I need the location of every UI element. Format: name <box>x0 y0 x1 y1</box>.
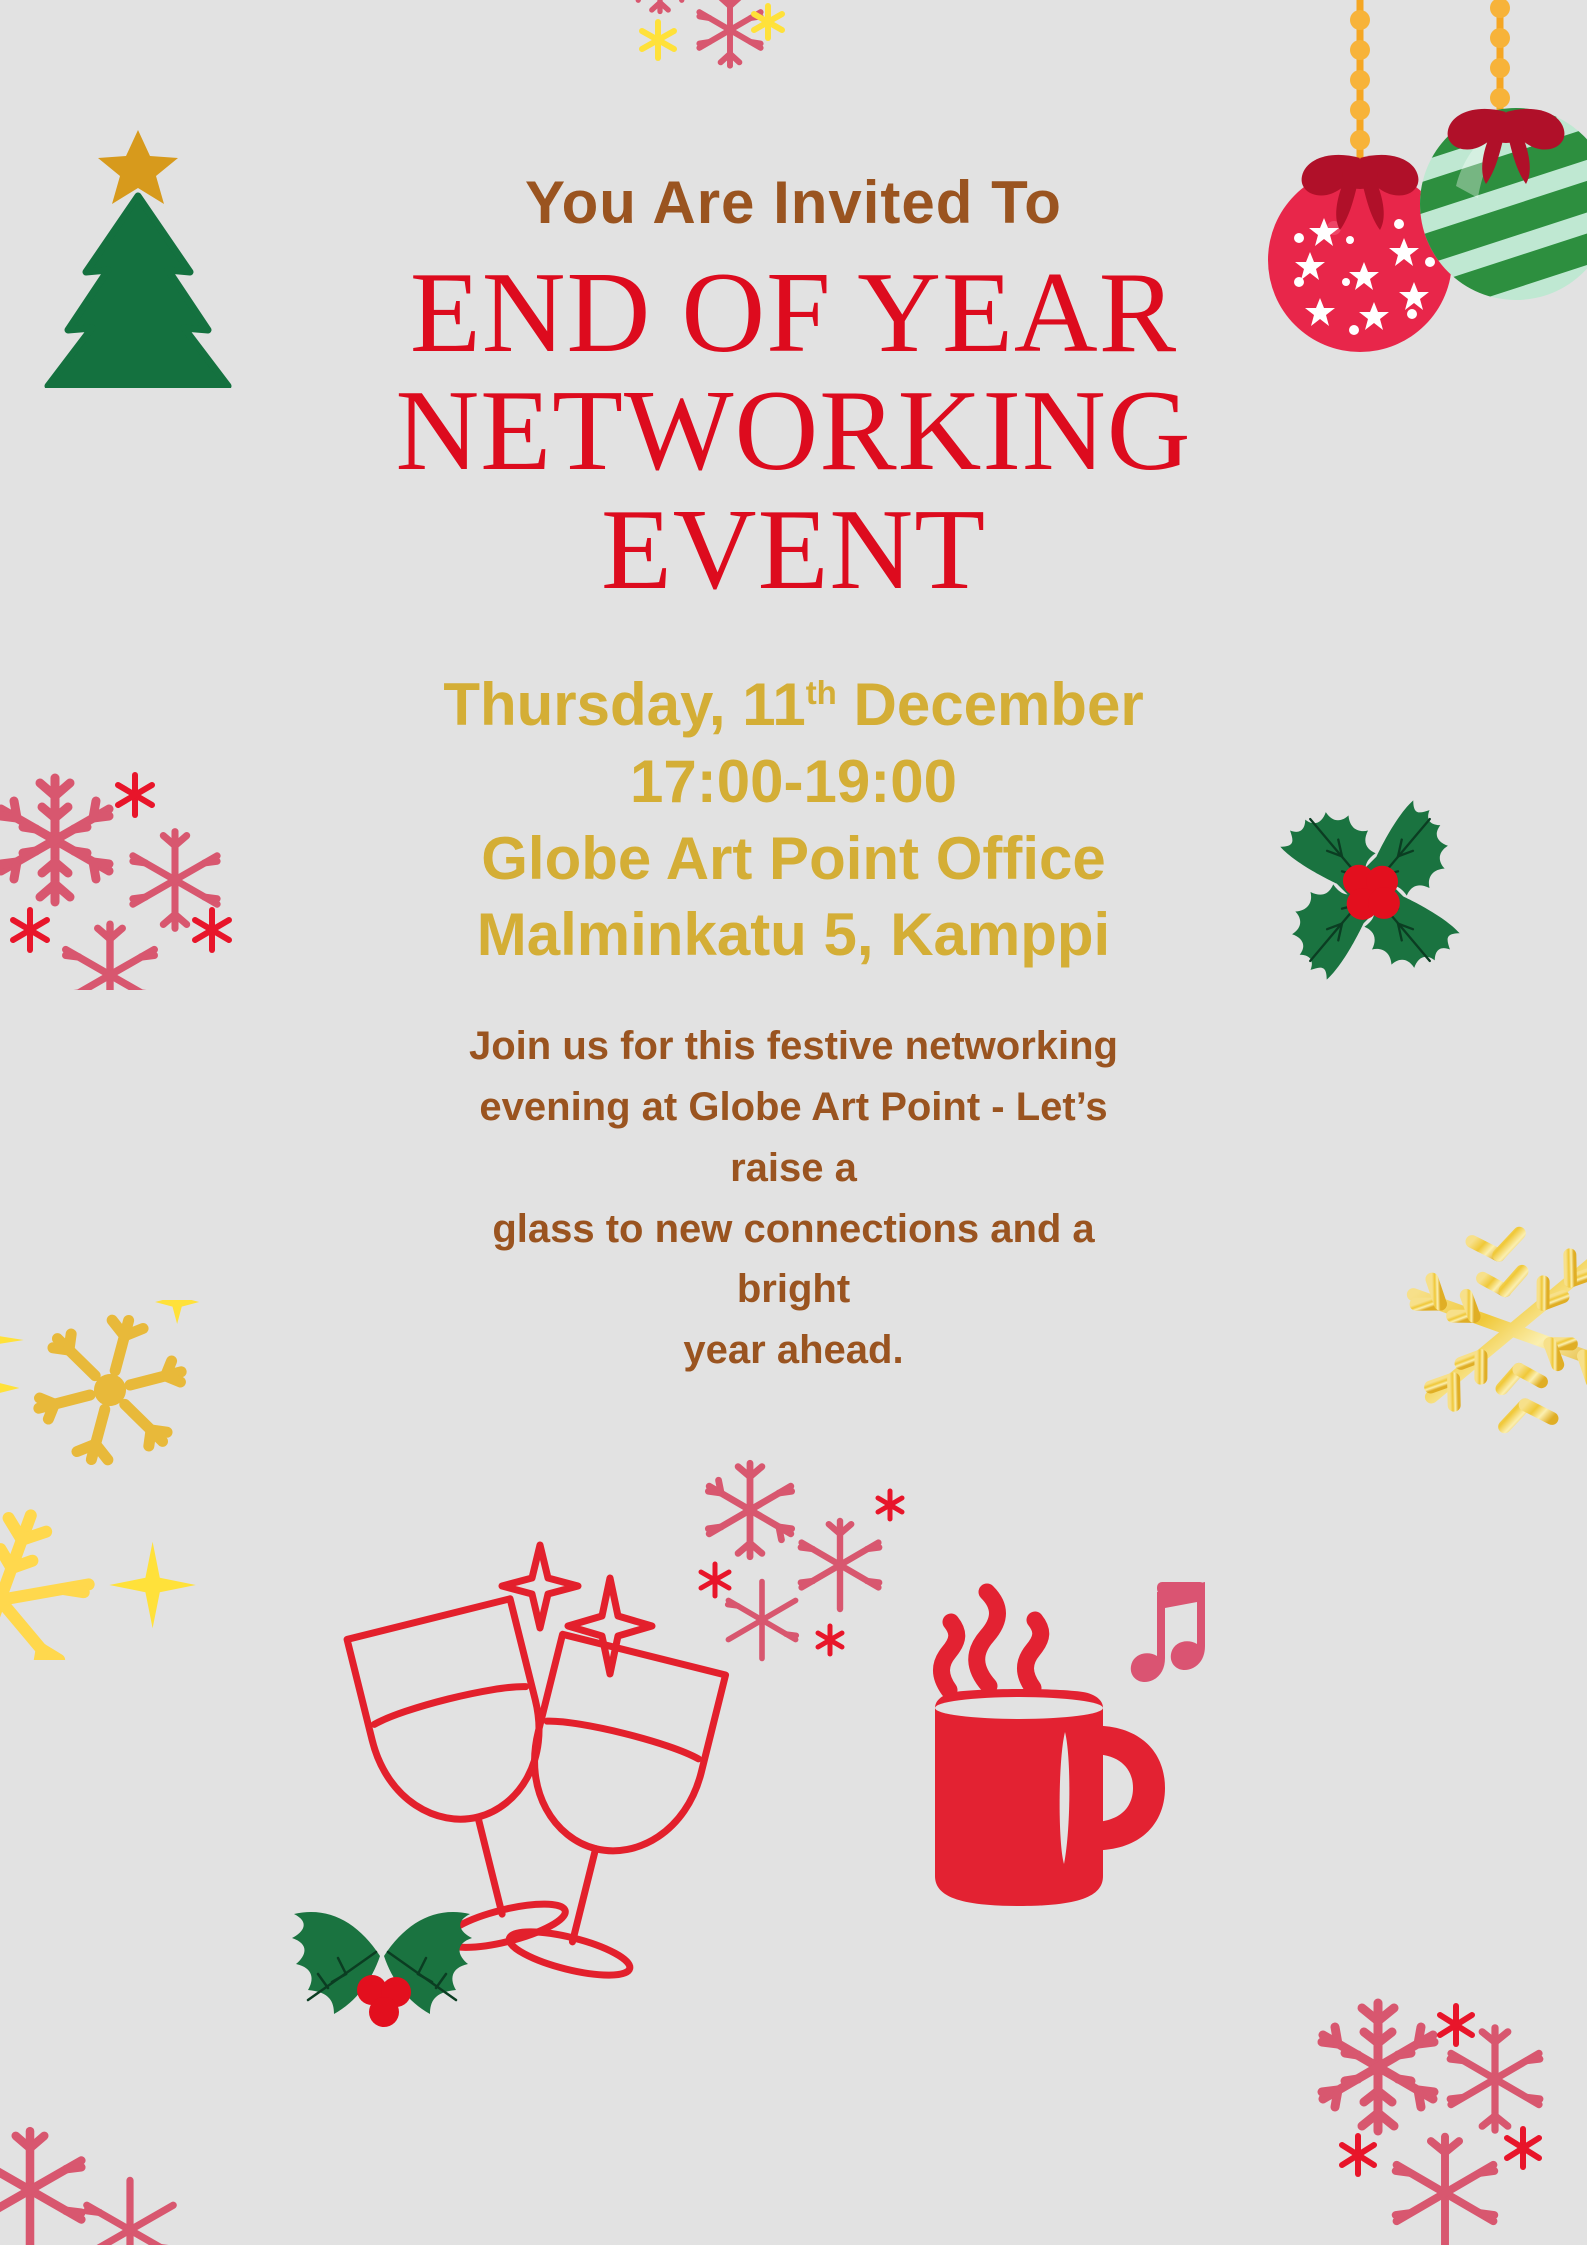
event-date-prefix: Thursday, 11 <box>443 671 805 738</box>
event-date: Thursday, 11th December <box>294 667 1294 744</box>
event-venue: Globe Art Point Office <box>294 821 1294 898</box>
snowflakes-pink-left-icon <box>0 740 250 990</box>
event-details: Thursday, 11th December 17:00-19:00 Glob… <box>294 667 1294 974</box>
event-date-ordinal: th <box>806 674 837 711</box>
holly-base-icon <box>272 1860 492 2040</box>
red-bauble-icon <box>1262 0 1502 370</box>
title-line-3: EVENT <box>294 491 1294 609</box>
blurb-line-4: year ahead. <box>444 1320 1144 1381</box>
snowflakes-pink-bottomleft-icon <box>0 2080 200 2245</box>
title-line-1: END OF YEAR <box>294 254 1294 372</box>
poster-text-stack: You Are Invited To END OF YEAR NETWORKIN… <box>294 170 1294 1381</box>
coffee-mug-icon <box>925 1560 1215 1920</box>
blurb-line-1: Join us for this festive networking <box>444 1016 1144 1077</box>
invited-line: You Are Invited To <box>294 170 1294 236</box>
wine-glasses-icon <box>270 1520 770 2000</box>
poster-canvas: You Are Invited To END OF YEAR NETWORKIN… <box>0 0 1587 2245</box>
page-title: END OF YEAR NETWORKING EVENT <box>294 254 1294 609</box>
snowflakes-pink-top-icon <box>600 0 830 150</box>
title-line-2: NETWORKING <box>294 372 1294 490</box>
christmas-tree-icon <box>38 108 258 388</box>
snowflakes-pink-mid-icon <box>680 1450 930 1680</box>
event-blurb: Join us for this festive networking even… <box>444 1016 1144 1381</box>
snowflakes-gold-left-icon <box>0 1300 260 1660</box>
glitter-snowflake-icon <box>1392 1210 1587 1460</box>
green-striped-bauble-icon <box>1420 0 1587 316</box>
event-time: 17:00-19:00 <box>294 744 1294 821</box>
event-address: Malminkatu 5, Kamppi <box>294 897 1294 974</box>
blurb-line-3: glass to new connections and a bright <box>444 1199 1144 1321</box>
blurb-line-2: evening at Globe Art Point - Let’s raise… <box>444 1077 1144 1199</box>
event-date-suffix: December <box>837 671 1144 738</box>
snowflakes-pink-bottomright-icon <box>1280 1975 1587 2245</box>
